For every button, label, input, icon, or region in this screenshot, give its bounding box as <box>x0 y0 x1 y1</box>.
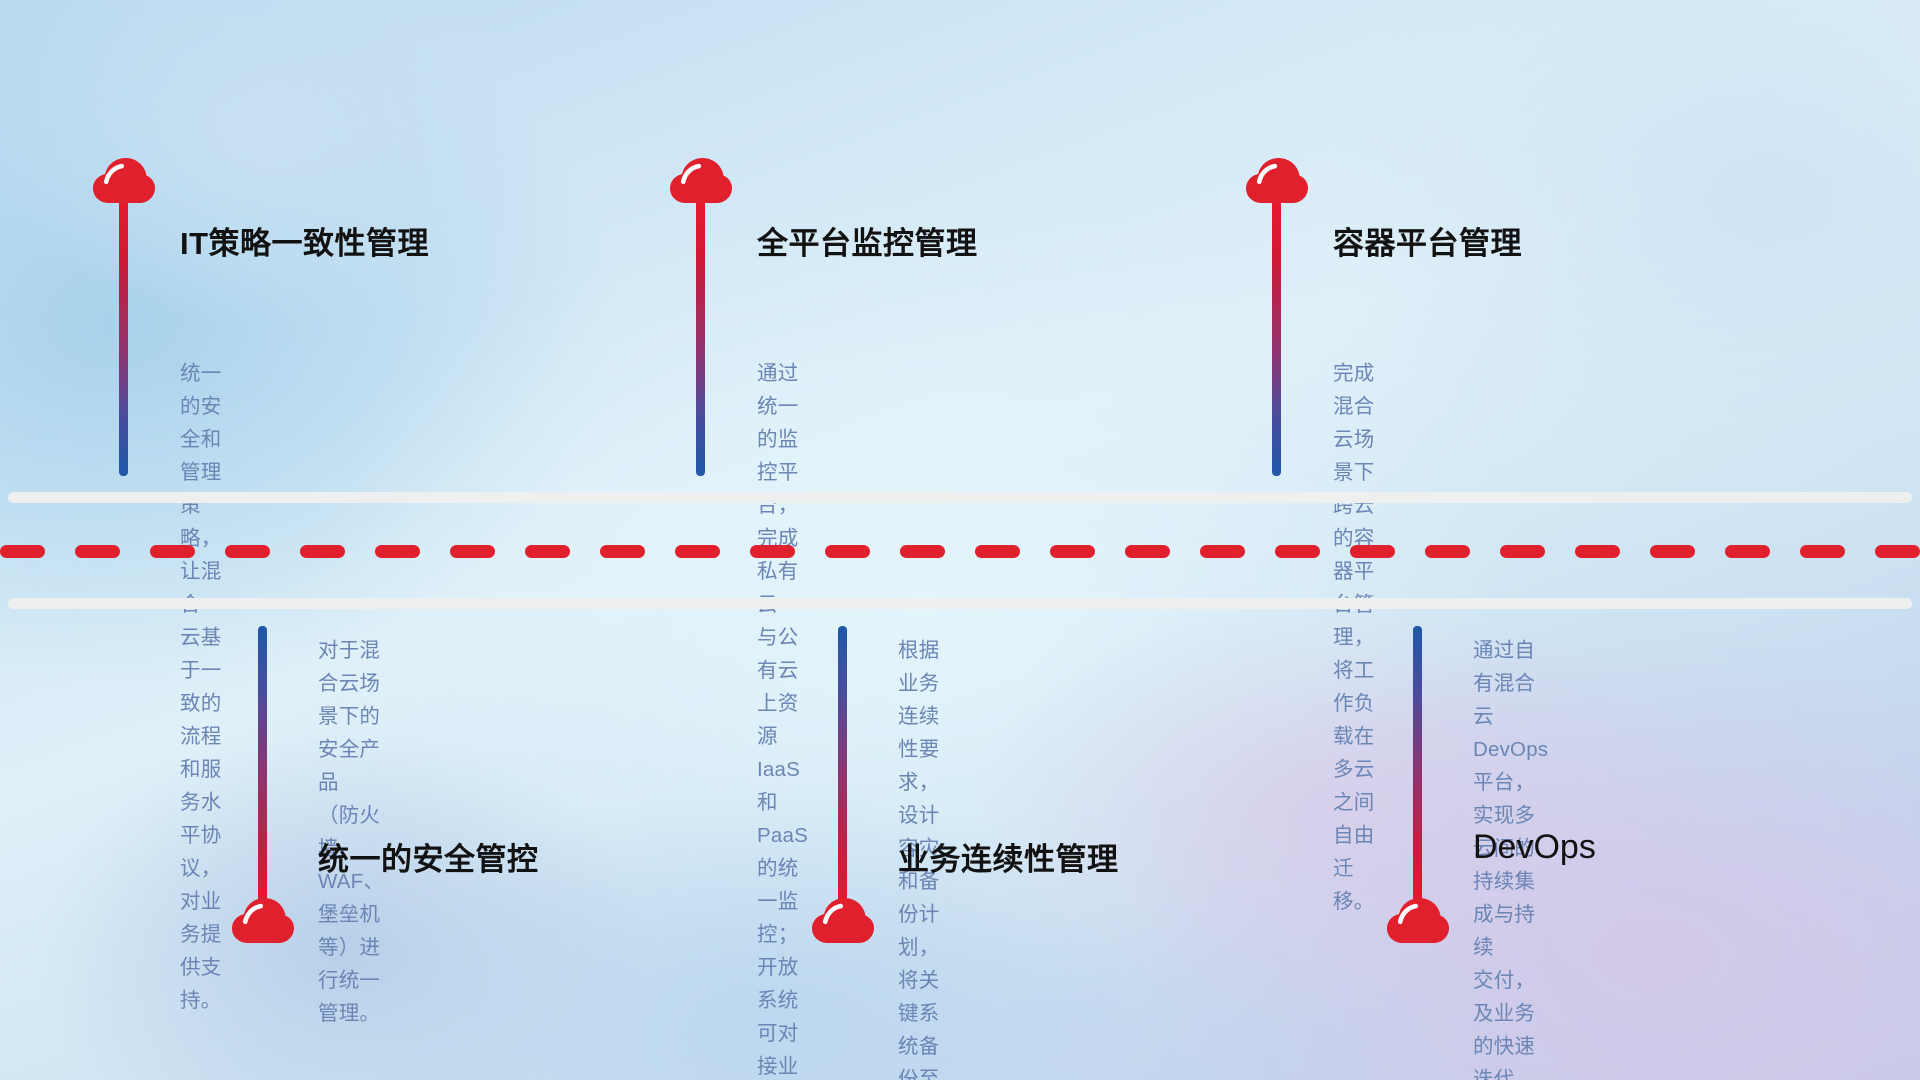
cloud-pin-icon <box>232 898 294 944</box>
divider-dash <box>150 545 195 558</box>
stem-line-3 <box>1272 196 1281 476</box>
divider-rail-top <box>8 492 1912 503</box>
top-item-3-body: 完成混合云场景下跨云的容器平 台管理，将工作负载在多云之间 自由迁移。 <box>1333 357 1374 918</box>
stem-line-1 <box>119 196 128 476</box>
top-item-2-body: 通过统一的监控平台，完成私有云 与公有云上资源IaaS和PaaS的统 一监控；开… <box>757 357 808 1080</box>
bottom-item-1-body: 对于混合云场景下的安全产品 （防火墙、WAF、堡垒机等）进 行统一管理。 <box>318 634 384 1030</box>
divider-dash <box>675 545 720 558</box>
divider-dash <box>0 545 45 558</box>
stem-line-5 <box>838 626 847 908</box>
top-item-1-title: IT策略一致性管理 <box>180 218 429 263</box>
divider-dash <box>1875 545 1920 558</box>
divider-dash <box>900 545 945 558</box>
divider-dash <box>300 545 345 558</box>
cloud-pin-icon <box>1246 158 1308 204</box>
divider-dash <box>1050 545 1095 558</box>
divider-dash <box>1275 545 1320 558</box>
divider-dash <box>525 545 570 558</box>
divider-dash <box>1650 545 1695 558</box>
infographic-canvas: IT策略一致性管理 统一的安全和管理策略，让混合 云基于一致的流程和服务水平协 … <box>0 0 1920 1080</box>
bottom-item-3-title: DevOps <box>1473 828 1596 867</box>
divider-dash <box>1725 545 1770 558</box>
cloud-pin-icon <box>670 158 732 204</box>
top-item-2-title: 全平台监控管理 <box>757 218 978 263</box>
divider-rail-bottom <box>8 598 1912 609</box>
divider-dash <box>1575 545 1620 558</box>
divider-dash <box>1350 545 1395 558</box>
cloud-pin-icon <box>812 898 874 944</box>
divider-dash <box>1800 545 1845 558</box>
bottom-item-1-title: 统一的安全管控 <box>318 834 539 879</box>
bottom-item-2-title: 业务连续性管理 <box>898 834 1119 879</box>
divider-dashed-line <box>0 545 1920 558</box>
divider-dash <box>1500 545 1545 558</box>
divider-dash <box>225 545 270 558</box>
divider-dash <box>75 545 120 558</box>
divider-dash <box>1425 545 1470 558</box>
cloud-pin-icon <box>93 158 155 204</box>
divider-dash <box>375 545 420 558</box>
divider-dash <box>1200 545 1245 558</box>
divider-dash <box>825 545 870 558</box>
divider-dash <box>600 545 645 558</box>
divider-dash <box>1125 545 1170 558</box>
stem-line-6 <box>1413 626 1422 908</box>
stem-line-4 <box>258 626 267 908</box>
top-item-3-title: 容器平台管理 <box>1333 218 1522 263</box>
stem-line-2 <box>696 196 705 476</box>
divider-dash <box>450 545 495 558</box>
divider-dash <box>975 545 1020 558</box>
divider-dash <box>750 545 795 558</box>
top-item-1-body: 统一的安全和管理策略，让混合 云基于一致的流程和服务水平协 议，对业务提供支持。 <box>180 357 221 1017</box>
cloud-pin-icon <box>1387 898 1449 944</box>
